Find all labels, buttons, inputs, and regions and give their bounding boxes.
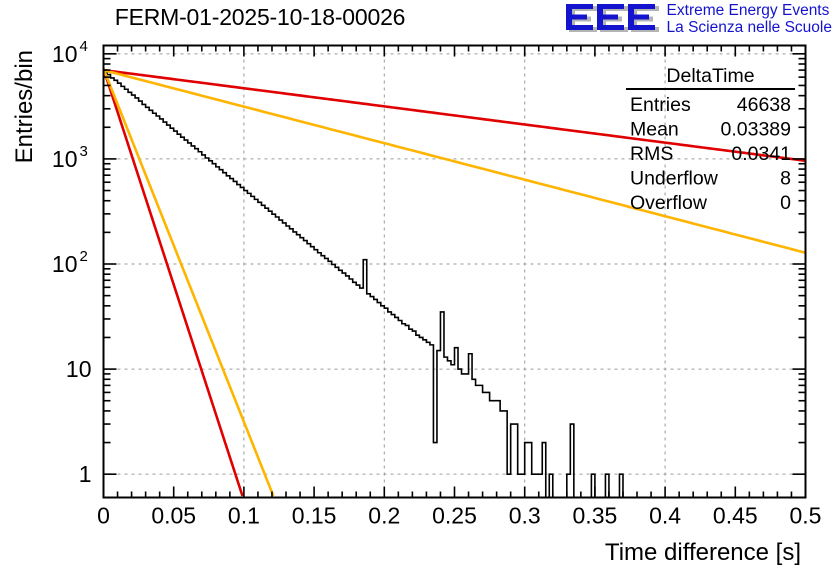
axis-frame — [104, 46, 806, 498]
x-tick-label: 0.35 — [573, 503, 618, 529]
svg-text:10: 10 — [52, 251, 78, 277]
stats-box: DeltaTimeEntries46638Mean0.03389RMS0.034… — [626, 65, 795, 214]
stats-row-value: 0.03389 — [721, 119, 792, 141]
x-tick-label: 0.2 — [368, 503, 400, 529]
x-tick-label: 0.3 — [509, 503, 541, 529]
y-axis-label: Entries/bin — [11, 50, 38, 163]
svg-text:10: 10 — [66, 356, 92, 382]
svg-text:10: 10 — [52, 41, 78, 67]
y-tick-label: 1 — [79, 461, 92, 487]
stats-row-value: 0.0341 — [731, 143, 791, 165]
svg-text:3: 3 — [80, 143, 88, 160]
svg-text:10: 10 — [52, 146, 78, 172]
x-tick-label: 0.5 — [790, 503, 822, 529]
stats-title: DeltaTime — [666, 65, 754, 87]
stats-row-label: Mean — [630, 119, 679, 141]
grid-layer — [104, 46, 806, 498]
x-tick-label: 0.05 — [151, 503, 196, 529]
x-tick-label: 0.1 — [228, 503, 260, 529]
stats-row-value: 0 — [780, 192, 791, 214]
x-axis-label: Time difference [s] — [605, 539, 801, 566]
stats-row-label: Entries — [630, 94, 691, 116]
y-tick-label: 104 — [52, 38, 88, 67]
stats-row-value: 46638 — [737, 94, 791, 116]
stats-row-label: RMS — [630, 143, 673, 165]
x-tick-label: 0.15 — [292, 503, 337, 529]
svg-text:1: 1 — [79, 461, 92, 487]
x-tick-label: 0.25 — [432, 503, 477, 529]
stats-row-label: Underflow — [630, 168, 719, 190]
y-tick-label: 10 — [66, 356, 92, 382]
y-tick-label: 102 — [52, 248, 88, 277]
x-tick-label: 0.45 — [713, 503, 758, 529]
chart-svg: 00.050.10.150.20.250.30.350.40.450.51101… — [0, 0, 836, 572]
x-tick-label: 0 — [97, 503, 110, 529]
y-tick-label: 103 — [52, 143, 88, 172]
svg-text:4: 4 — [80, 38, 88, 55]
data-layer — [104, 69, 806, 498]
plot-canvas: FERM-01-2025-10-18-00026 — [0, 0, 836, 572]
stats-row-label: Overflow — [630, 192, 708, 214]
stats-row-value: 8 — [780, 168, 791, 190]
x-tick-label: 0.4 — [649, 503, 681, 529]
svg-text:2: 2 — [80, 248, 88, 265]
tick-labels: 00.050.10.150.20.250.30.350.40.450.51101… — [52, 38, 822, 529]
